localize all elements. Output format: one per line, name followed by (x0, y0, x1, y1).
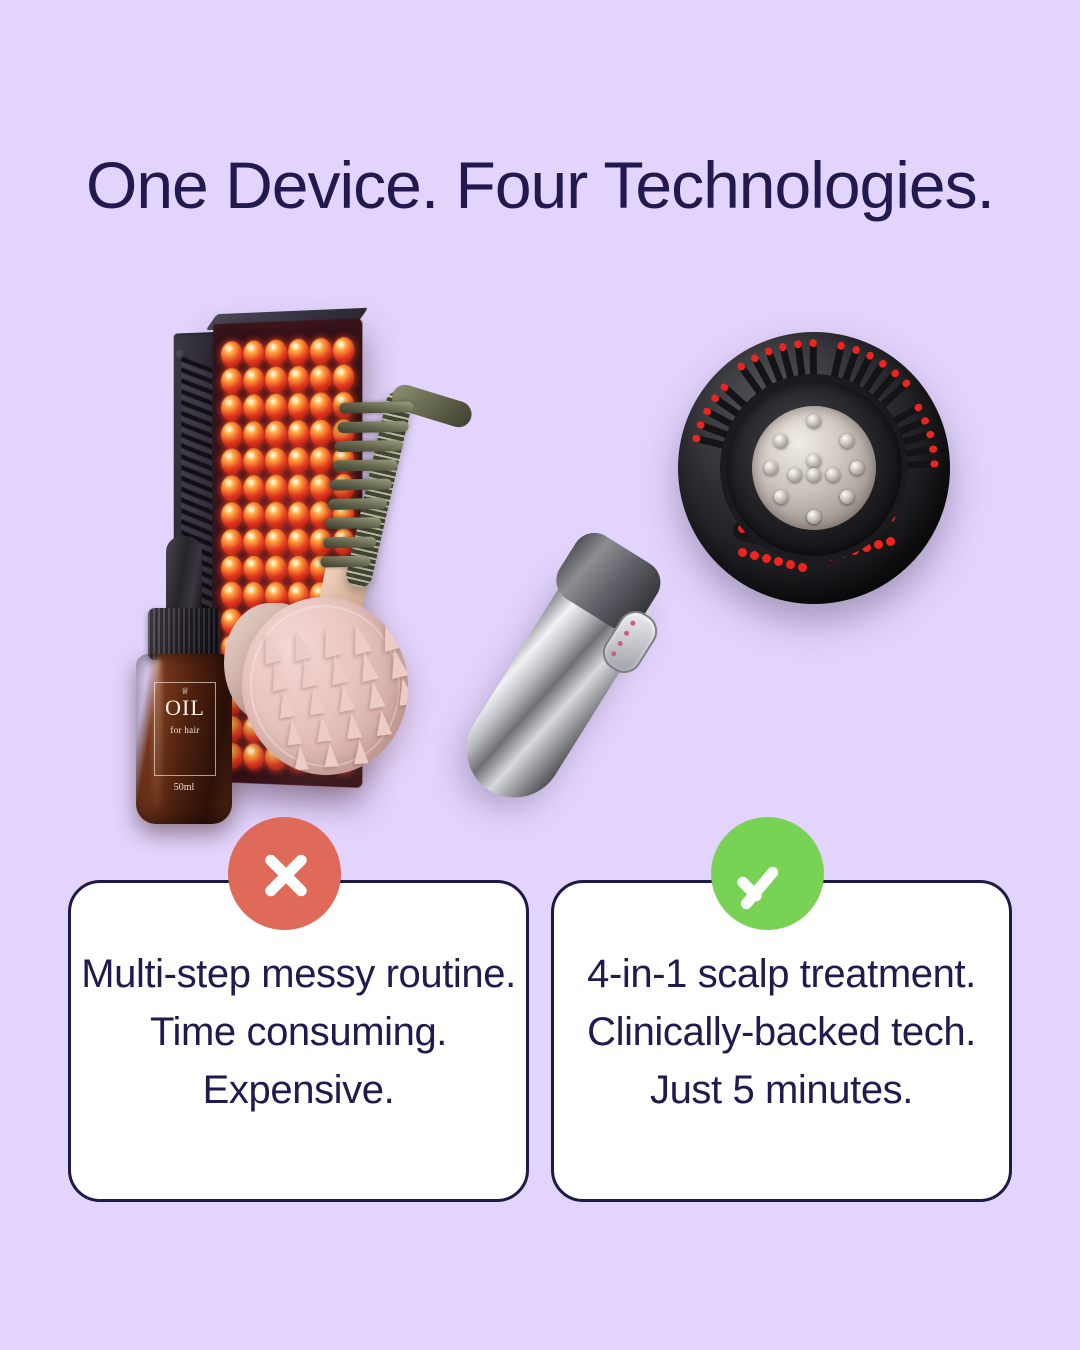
positive-line-2: Clinically-backed tech. (587, 1003, 976, 1061)
comb-tooth (339, 401, 413, 413)
laser-diode (788, 468, 802, 482)
massager-spike (293, 745, 309, 770)
led-dot (243, 555, 264, 581)
led-dot (265, 474, 286, 500)
led-dot (221, 448, 242, 474)
comb-tooth (337, 421, 408, 433)
device-bristle (900, 432, 931, 447)
led-dot (310, 474, 332, 500)
comb-tooth (327, 498, 386, 510)
led-dot (310, 392, 332, 419)
massager-spike (344, 712, 362, 739)
led-dot (243, 394, 264, 420)
bottle-body: ♕ OIL for hair 50ml (136, 654, 232, 824)
led-dot (265, 393, 286, 420)
massager-spike (284, 718, 302, 745)
comb-tooth (323, 536, 376, 548)
led-dot (265, 339, 286, 366)
massager-spike (374, 709, 392, 736)
device-nub (798, 563, 807, 572)
led-dot (221, 395, 242, 421)
poster-canvas: One Device. Four Technologies. (0, 0, 1080, 1350)
led-dot (265, 555, 286, 581)
led-dot (243, 421, 264, 447)
laser-diode (774, 490, 788, 504)
device-nub (774, 557, 783, 566)
dropper-cap (166, 536, 202, 618)
led-dot (287, 474, 308, 500)
led-dot (243, 367, 264, 394)
bottle-collar (148, 608, 220, 660)
negative-line-1: Multi-step messy routine. (81, 945, 516, 1003)
led-dot (243, 448, 264, 474)
comb-tooth (335, 440, 403, 452)
led-dot (221, 341, 242, 368)
device-nub (886, 537, 895, 546)
device-bristle (902, 446, 933, 458)
device-bristle (904, 460, 934, 468)
comb-tooth (325, 517, 381, 529)
led-dot (287, 501, 308, 527)
led-dot (243, 340, 264, 367)
led-dot (243, 475, 264, 501)
led-dot (243, 502, 264, 528)
bottle-label-volume: 50ml (136, 782, 232, 793)
positive-badge (711, 817, 824, 930)
device-bristle (809, 344, 816, 378)
led-dot (287, 366, 308, 393)
device-nub (874, 540, 883, 549)
device-inner-ring (726, 380, 902, 556)
laser-diode (807, 454, 821, 468)
device-nub (738, 548, 747, 557)
device-nub (862, 543, 871, 552)
massager-spike (323, 742, 339, 767)
massager-spike (395, 676, 416, 705)
product-showcase: ♕ OIL for hair 50ml (0, 300, 1080, 840)
led-dot (310, 419, 332, 446)
led-dot (332, 337, 354, 364)
bottle-label-title: OIL (155, 697, 215, 719)
laser-diode (840, 490, 854, 504)
led-dot (221, 421, 242, 447)
comb-tooth (332, 459, 397, 471)
led-dot (265, 528, 286, 554)
led-dot (310, 365, 332, 392)
led-dot (265, 366, 286, 393)
led-dot (287, 338, 308, 365)
positive-line-1: 4-in-1 scalp treatment. (587, 945, 976, 1003)
comb-tooth (320, 556, 370, 568)
comb-tooth (330, 479, 392, 491)
positive-line-3: Just 5 minutes. (650, 1061, 913, 1119)
negative-line-2: Time consuming. (150, 1003, 447, 1061)
device-brush-head (678, 332, 950, 604)
led-dot (287, 420, 308, 447)
negative-line-3: Expensive. (203, 1061, 395, 1119)
led-dot (332, 364, 354, 391)
led-dot (221, 502, 242, 528)
negative-badge (228, 817, 341, 930)
laser-diode (840, 434, 854, 448)
device-bristle (794, 345, 805, 380)
led-dot (265, 420, 286, 446)
laser-diode (826, 468, 840, 482)
laser-diode (764, 461, 778, 475)
massager-spikes (233, 589, 398, 606)
led-dot (287, 556, 308, 582)
laser-diode (850, 461, 864, 475)
led-dot (221, 475, 242, 501)
device-laser-core (752, 406, 876, 530)
old-routine-product-group: ♕ OIL for hair 50ml (0, 300, 540, 840)
laser-diode (774, 434, 788, 448)
led-dot (310, 338, 332, 365)
led-dot (287, 528, 308, 554)
scalp-treatment-device (550, 310, 1010, 830)
led-dot (221, 368, 242, 394)
device-nub (762, 554, 771, 563)
massager-spike (314, 715, 332, 742)
laser-diode (807, 510, 821, 524)
page-title: One Device. Four Technologies. (0, 152, 1080, 218)
led-dot (265, 501, 286, 527)
device-nub (750, 551, 759, 560)
positive-comparison-card: 4-in-1 scalp treatment. Clinically-backe… (551, 880, 1012, 1202)
pink-scalp-massager-brush (222, 585, 410, 785)
led-dot (287, 393, 308, 420)
negative-comparison-card: Multi-step messy routine. Time consuming… (68, 880, 529, 1202)
led-dot (310, 447, 332, 474)
led-dot (287, 447, 308, 473)
led-dot (265, 447, 286, 473)
laser-diode (807, 414, 821, 428)
new-device-product-group (540, 300, 1080, 840)
device-bristle (697, 436, 728, 450)
check-icon (736, 842, 800, 906)
device-nub (738, 524, 747, 533)
device-nub (786, 560, 795, 569)
laser-diode (807, 468, 821, 482)
bottle-label-subtitle: for hair (155, 725, 215, 735)
x-icon (255, 844, 315, 904)
led-dot (243, 529, 264, 555)
bottle-label: ♕ OIL for hair (154, 682, 216, 776)
massager-spike (352, 739, 368, 764)
